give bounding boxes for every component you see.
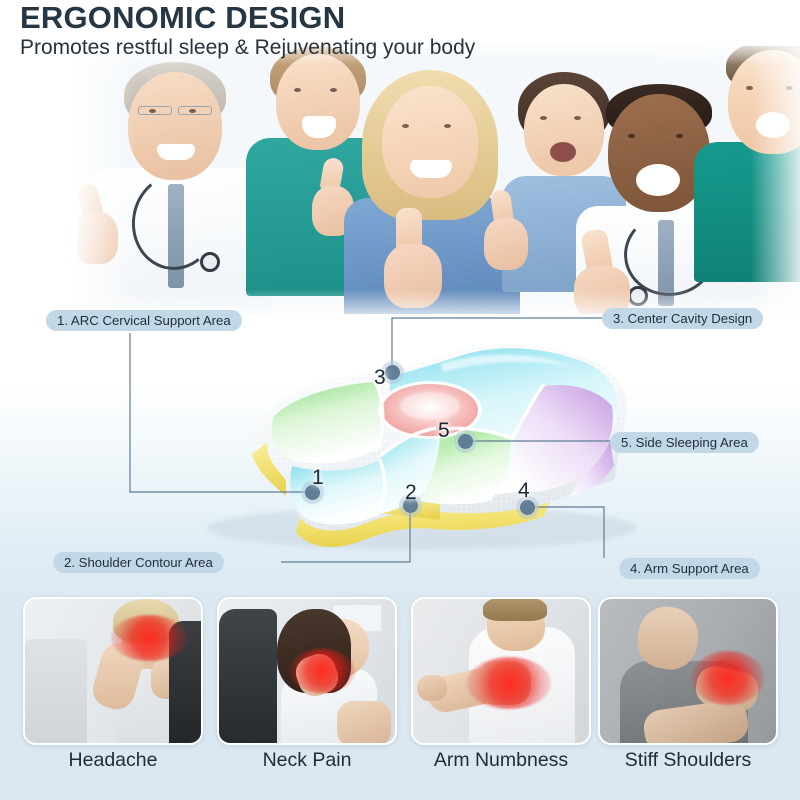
callout-5-side-sleeping-area[interactable]: 5. Side Sleeping Area bbox=[610, 432, 759, 453]
infographic-canvas: ERGONOMIC DESIGN Promotes restful sleep … bbox=[0, 0, 800, 800]
callout-1-arc-cervical-support-area[interactable]: 1. ARC Cervical Support Area bbox=[46, 310, 242, 331]
marker-dot-5[interactable] bbox=[458, 434, 473, 449]
marker-number-4: 4 bbox=[518, 479, 530, 503]
marker-number-5: 5 bbox=[438, 419, 450, 443]
marker-number-2: 2 bbox=[405, 481, 417, 505]
callout-4-label: 4. Arm Support Area bbox=[630, 561, 749, 576]
callout-3-label: 3. Center Cavity Design bbox=[613, 311, 752, 326]
marker-number-3: 3 bbox=[374, 366, 386, 390]
callout-1-label: 1. ARC Cervical Support Area bbox=[57, 313, 231, 328]
callout-4-arm-support-area[interactable]: 4. Arm Support Area bbox=[619, 558, 760, 579]
marker-number-1: 1 bbox=[312, 466, 324, 490]
marker-dot-3[interactable] bbox=[385, 365, 400, 380]
callout-5-label: 5. Side Sleeping Area bbox=[621, 435, 748, 450]
leader-line-1 bbox=[0, 0, 800, 800]
callout-3-center-cavity-design[interactable]: 3. Center Cavity Design bbox=[602, 308, 763, 329]
callout-2-shoulder-contour-area[interactable]: 2. Shoulder Contour Area bbox=[53, 552, 224, 573]
callout-2-label: 2. Shoulder Contour Area bbox=[64, 555, 213, 570]
